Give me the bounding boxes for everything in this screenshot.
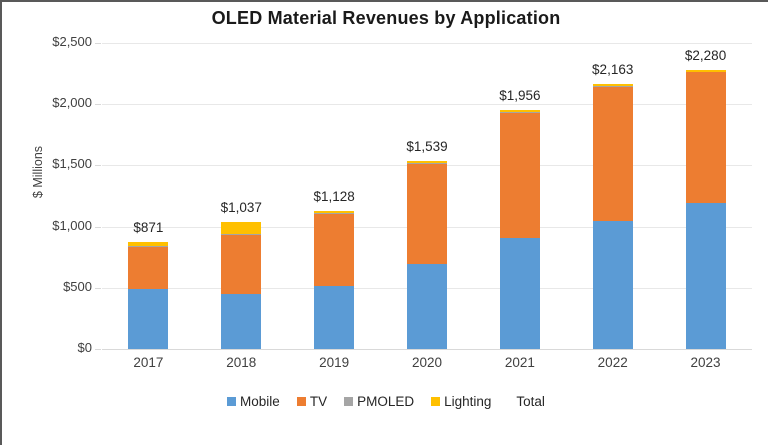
bar-total-label-2020: $1,539 (372, 139, 482, 154)
y-axis-tick-label: $2,000 (12, 95, 92, 110)
bar-segment-lighting-2017[interactable] (128, 242, 168, 245)
chart-legend: MobileTVPMOLEDLightingTotal (2, 394, 768, 409)
y-axis-tick-mark (95, 349, 101, 350)
bar-segment-pmoled-2018[interactable] (221, 234, 261, 236)
bar-total-label-2021: $1,956 (465, 88, 575, 103)
legend-item-tv[interactable]: TV (297, 394, 327, 409)
bar-group-2023[interactable] (686, 43, 726, 349)
bar-segment-mobile-2019[interactable] (314, 286, 354, 349)
y-axis-tick-label: $0 (12, 340, 92, 355)
legend-item-mobile[interactable]: Mobile (227, 394, 280, 409)
bar-segment-mobile-2021[interactable] (500, 238, 540, 349)
bar-segment-mobile-2022[interactable] (593, 221, 633, 349)
y-axis-tick-label: $500 (12, 279, 92, 294)
bar-group-2022[interactable] (593, 43, 633, 349)
bar-total-label-2023: $2,280 (651, 48, 761, 63)
chart-title: OLED Material Revenues by Application (2, 8, 768, 29)
y-axis-tick-label: $1,500 (12, 156, 92, 171)
bar-segment-lighting-2023[interactable] (686, 70, 726, 72)
bar-segment-tv-2022[interactable] (593, 87, 633, 222)
plot-area: $871$1,037$1,128$1,539$1,956$2,163$2,280 (102, 43, 752, 349)
y-axis-tick-mark (95, 104, 101, 105)
y-axis-tick-label: $2,500 (12, 34, 92, 49)
bar-segment-lighting-2020[interactable] (407, 161, 447, 163)
oled-revenue-chart: OLED Material Revenues by Application $ … (0, 0, 768, 445)
legend-swatch-lighting (431, 397, 440, 406)
legend-label: Mobile (240, 394, 280, 409)
legend-label: PMOLED (357, 394, 414, 409)
bar-segment-lighting-2021[interactable] (500, 110, 540, 112)
bar-segment-mobile-2017[interactable] (128, 289, 168, 349)
y-axis-tick-mark (95, 288, 101, 289)
x-axis-tick-label-2023: 2023 (651, 355, 761, 370)
y-axis-tick-label: $1,000 (12, 218, 92, 233)
bar-segment-lighting-2019[interactable] (314, 211, 354, 213)
bar-segment-lighting-2022[interactable] (593, 84, 633, 86)
bar-total-label-2022: $2,163 (558, 62, 668, 77)
y-axis-tick-mark (95, 43, 101, 44)
gridline (102, 349, 752, 350)
bar-segment-mobile-2018[interactable] (221, 294, 261, 349)
legend-swatch-mobile (227, 397, 236, 406)
bar-segment-lighting-2018[interactable] (221, 222, 261, 234)
y-axis-title: $ Millions (31, 112, 45, 232)
legend-label: Total (516, 394, 545, 409)
bar-segment-tv-2019[interactable] (314, 214, 354, 286)
bar-segment-tv-2021[interactable] (500, 113, 540, 238)
legend-label: Lighting (444, 394, 491, 409)
bar-segment-pmoled-2017[interactable] (128, 246, 168, 248)
bar-segment-tv-2017[interactable] (128, 247, 168, 289)
y-axis-tick-mark (95, 165, 101, 166)
y-axis-tick-mark (95, 227, 101, 228)
bar-group-2017[interactable] (128, 43, 168, 349)
legend-item-lighting[interactable]: Lighting (431, 394, 491, 409)
bar-segment-tv-2023[interactable] (686, 72, 726, 203)
bar-total-label-2019: $1,128 (279, 189, 389, 204)
bar-segment-tv-2020[interactable] (407, 164, 447, 264)
legend-label: TV (310, 394, 327, 409)
legend-swatch-pmoled (344, 397, 353, 406)
bar-total-label-2017: $871 (93, 220, 203, 235)
bar-group-2020[interactable] (407, 43, 447, 349)
bar-segment-mobile-2020[interactable] (407, 264, 447, 349)
legend-item-total[interactable]: Total (516, 394, 545, 409)
bar-segment-tv-2018[interactable] (221, 235, 261, 294)
legend-item-pmoled[interactable]: PMOLED (344, 394, 414, 409)
bar-group-2018[interactable] (221, 43, 261, 349)
bar-segment-mobile-2023[interactable] (686, 203, 726, 349)
legend-swatch-tv (297, 397, 306, 406)
